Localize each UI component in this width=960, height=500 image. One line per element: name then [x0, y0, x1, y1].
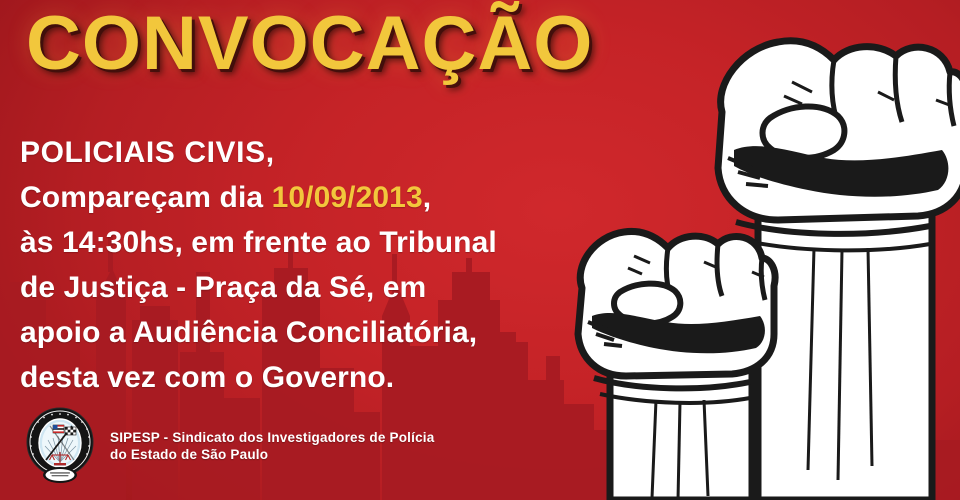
date-prefix-label: Compareçam dia: [20, 181, 272, 214]
audience-comma: ,: [266, 136, 275, 169]
date-comma: ,: [423, 181, 431, 214]
audience-label: POLICIAIS CIVIS: [20, 136, 266, 169]
organization-line-2: do Estado de São Paulo: [110, 446, 434, 463]
text-line-time-place: às 14:30hs, em frente ao Tribunal: [20, 220, 600, 265]
organization-line-1: SIPESP - Sindicato dos Investigadores de…: [110, 429, 434, 446]
closing-label: desta vez com o Governo.: [20, 361, 394, 394]
footer: SIPESP - Sindicato dos Investigadores de…: [24, 406, 434, 486]
organization-name: SIPESP - Sindicato dos Investigadores de…: [110, 429, 434, 463]
event-date-value: 10/09/2013: [272, 181, 423, 214]
text-line-address: de Justiça - Praça da Sé, em: [20, 265, 600, 310]
purpose-label: apoio a Audiência Conciliatória,: [20, 316, 477, 349]
text-line-purpose: apoio a Audiência Conciliatória,: [20, 310, 600, 355]
text-line-date: Compareçam dia 10/09/2013,: [20, 175, 600, 220]
address-label: de Justiça - Praça da Sé, em: [20, 271, 426, 304]
time-place-label: às 14:30hs, em frente ao Tribunal: [20, 226, 497, 259]
convocacao-poster: CONVOCAÇÃO POLICIAIS CIVIS, Compareçam d…: [0, 0, 960, 500]
text-line-audience: POLICIAIS CIVIS,: [20, 130, 600, 175]
page-title: CONVOCAÇÃO: [26, 6, 593, 82]
announcement-body: POLICIAIS CIVIS, Compareçam dia 10/09/20…: [20, 130, 600, 400]
sipesp-seal-emblem: [24, 406, 96, 486]
text-line-closing: desta vez com o Governo.: [20, 355, 600, 400]
two-raised-fists: [546, 0, 960, 500]
